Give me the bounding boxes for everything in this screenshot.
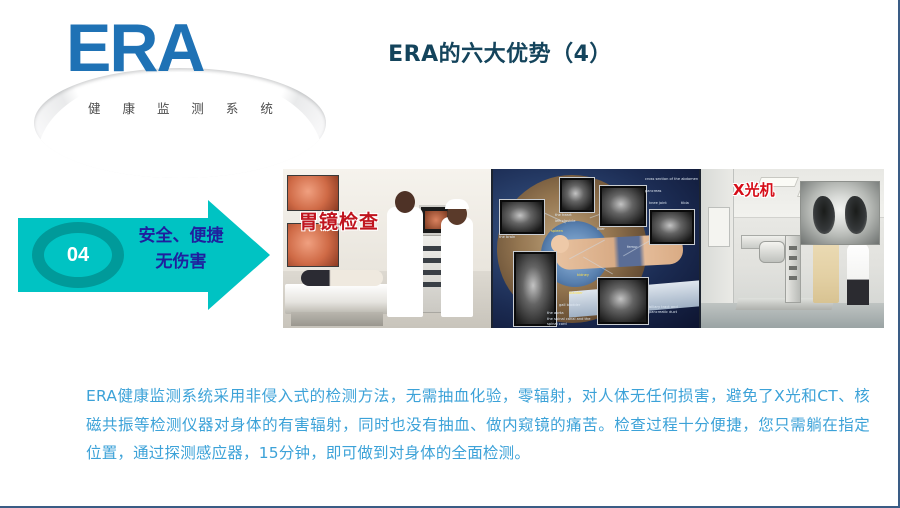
- mri-caption-brain: the brain: [499, 235, 515, 240]
- mri-caption-bladder: bladder: [569, 291, 583, 296]
- logo-wordmark: ERA: [66, 14, 204, 82]
- xray-machine-column: [785, 235, 801, 303]
- xray-wall-panel: [708, 207, 730, 247]
- mri-caption-gallbladder: gall bladder: [559, 303, 580, 308]
- mri-scan-gallbladder: [597, 277, 649, 325]
- endoscopy-patient: [301, 270, 383, 286]
- mri-caption-clavicle: left clavicle: [555, 219, 575, 224]
- mri-caption-tibia: tibia: [681, 201, 689, 206]
- advantage-number: 04: [67, 245, 89, 265]
- endoscopy-doctor-head: [395, 191, 415, 213]
- mri-caption-liver: liver: [597, 227, 605, 232]
- endoscope-image-thumbnail-1: [287, 175, 339, 211]
- logo-tagline: 健 康 监 测 系 统: [88, 98, 282, 117]
- xray-label: X光机: [733, 179, 775, 200]
- mri-scan-heart: [559, 177, 595, 213]
- endoscopy-doctor: [387, 207, 423, 317]
- mri-caption-aorta: the aorta: [547, 311, 564, 316]
- advantage-number-badge-inner: 04: [44, 233, 112, 277]
- endoscopy-bed-base: [291, 312, 383, 326]
- mri-caption-pancreas: pancreas: [645, 189, 661, 194]
- advantage-text-line-1: 安全、便捷: [122, 223, 240, 249]
- mri-caption-heart: the heart: [555, 213, 572, 218]
- xray-room-photo: X光机: [701, 169, 884, 328]
- endoscopy-bed: [285, 284, 393, 314]
- gastroscopy-photo: 胃镜检查: [283, 169, 493, 328]
- era-logo: ERA 健 康 监 测 系 统: [40, 14, 320, 114]
- nurse-cap: [445, 199, 469, 209]
- xray-patient: [813, 237, 839, 303]
- mri-caption-spinal: the spinal canal and the spinal cord: [547, 317, 595, 328]
- advantage-callout: 04 安全、便捷 无伤害: [18, 196, 270, 314]
- xray-lung-left: [813, 196, 835, 234]
- xray-tube-head: [759, 241, 785, 263]
- mri-caption-knee: knee joint: [649, 201, 667, 206]
- xray-lung-right: [845, 196, 867, 234]
- mri-caption-spleen: spleen: [551, 229, 563, 234]
- mri-caption-femur: femur: [627, 245, 638, 250]
- mri-scan-abdomen: [599, 185, 647, 227]
- advantage-text: 安全、便捷 无伤害: [122, 223, 240, 276]
- advantage-text-line-2: 无伤害: [122, 249, 240, 275]
- endoscopy-nurse: [441, 217, 473, 317]
- mri-caption-biliary: biliary tract and pancreatic duct: [649, 305, 695, 316]
- presentation-slide: ERA 健 康 监 测 系 统 ERA的六大优势（4） 04 安全、便捷 无伤害: [0, 0, 900, 508]
- chest-xray-film: [800, 181, 880, 245]
- body-paragraph: ERA健康监测系统采用非侵入式的检测方法，无需抽血化验，零辐射，对人体无任何损害…: [86, 382, 870, 468]
- gastroscopy-label: 胃镜检查: [299, 207, 379, 234]
- mri-scanner-photo: the brain the heart left clavicle liver …: [493, 169, 701, 328]
- mri-caption-kidney: kidney: [577, 273, 589, 278]
- mri-scan-knee: [649, 209, 695, 245]
- page-title: ERA的六大优势（4）: [330, 36, 670, 68]
- xray-technician: [847, 243, 869, 305]
- mri-caption-abdomen: cross section of the abdomen: [645, 177, 698, 182]
- image-strip: 胃镜检查 the brain the heart left clavicle: [283, 169, 884, 328]
- mri-scan-brain: [499, 199, 545, 235]
- advantage-number-badge: 04: [32, 222, 124, 288]
